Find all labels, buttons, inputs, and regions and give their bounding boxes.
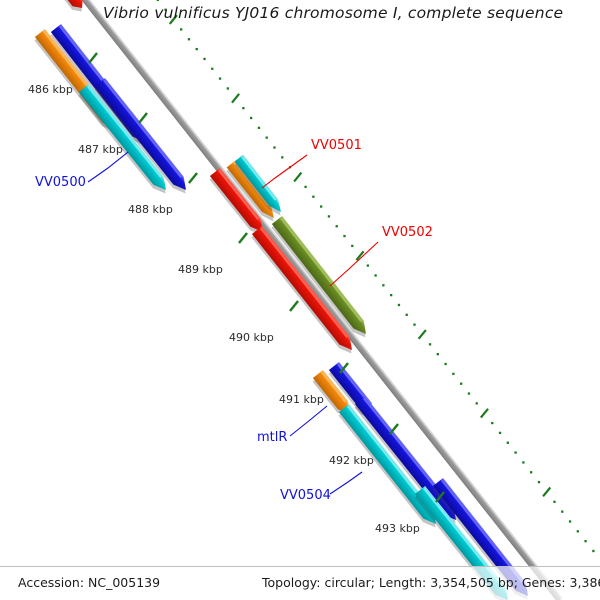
- feature-cyan-0500[interactable]: [77, 84, 173, 198]
- ruler-tick-minor: [592, 550, 594, 552]
- genome-map-viewer: 486 kbp487 kbp488 kbp489 kbp490 kbp491 k…: [0, 0, 600, 600]
- ruler-tick-minor: [203, 58, 205, 60]
- ruler-tick-minor: [211, 68, 213, 70]
- ruler-tick-minor: [196, 48, 198, 50]
- ruler-tick-minor: [281, 156, 283, 158]
- tick-marks-layer: [149, 0, 600, 600]
- ruler-tick-minor: [452, 373, 454, 375]
- ruler-tick-minor: [460, 383, 462, 385]
- ruler-tick-minor: [398, 304, 400, 306]
- ruler-tick-minor: [553, 501, 555, 503]
- ruler-tick-minor: [227, 87, 229, 89]
- gene-label-leader: [330, 242, 378, 286]
- ruler-tick-minor: [304, 186, 306, 188]
- ruler-tick-minor: [577, 530, 579, 532]
- ruler-tick-minor: [180, 28, 182, 30]
- sequence-meta-label: Topology: circular; Length: 3,354,505 bp…: [262, 575, 600, 590]
- ruler-tick-minor: [273, 146, 275, 148]
- feature-arrow[interactable]: [79, 84, 171, 194]
- gene-label-mtlr[interactable]: mtlR: [257, 430, 287, 445]
- gene-features-layer[interactable]: [33, 0, 535, 600]
- ruler-tick-minor: [444, 363, 446, 365]
- gene-label-vv0500[interactable]: VV0500: [35, 175, 86, 190]
- ruler-tick-minor: [266, 137, 268, 139]
- axis-tick-label: 491 kbp: [279, 393, 324, 406]
- ruler-tick-minor: [561, 510, 563, 512]
- axis-tick-mark: [139, 113, 147, 123]
- ruler-tick-minor: [413, 324, 415, 326]
- ruler-tick-minor: [437, 353, 439, 355]
- ruler-tick-minor: [312, 196, 314, 198]
- axis-tick-label: 490 kbp: [229, 331, 274, 344]
- ruler-tick-minor: [250, 117, 252, 119]
- ruler-tick-minor: [336, 225, 338, 227]
- ruler-tick-minor: [351, 245, 353, 247]
- axis-tick-mark: [239, 233, 247, 243]
- ruler-tick-minor: [507, 442, 509, 444]
- ruler-tick-minor: [476, 402, 478, 404]
- axis-tick-mark: [189, 173, 197, 183]
- feature-highlight: [87, 86, 162, 178]
- ruler-tick-minor: [514, 451, 516, 453]
- feature-arrow[interactable]: [95, 78, 191, 194]
- gene-label-leader: [330, 472, 362, 494]
- axis-tick-label: 489 kbp: [178, 263, 223, 276]
- ruler-tick-minor: [219, 77, 221, 79]
- genome-map-canvas[interactable]: 486 kbp487 kbp488 kbp489 kbp490 kbp491 k…: [0, 0, 600, 600]
- ruler-tick-minor: [328, 215, 330, 217]
- ruler-tick-major: [543, 488, 550, 497]
- ruler-tick-minor: [569, 520, 571, 522]
- ruler-tick-minor: [343, 235, 345, 237]
- ruler-tick-minor: [406, 314, 408, 316]
- axis-tick-label: 492 kbp: [329, 454, 374, 467]
- page-title: Vibrio vulnificus YJ016 chromosome I, co…: [103, 4, 563, 22]
- ruler-tick-minor: [499, 432, 501, 434]
- ruler-tick-minor: [390, 294, 392, 296]
- ruler-tick-major: [419, 330, 426, 339]
- accession-label: Accession: NC_005139: [18, 575, 160, 590]
- ruler-tick-minor: [468, 392, 470, 394]
- ruler-tick-minor: [188, 38, 190, 40]
- ruler-tick-major: [232, 94, 239, 103]
- ruler-tick-minor: [157, 0, 159, 1]
- ruler-tick-minor: [374, 274, 376, 276]
- gene-label-vv0501[interactable]: VV0501: [311, 138, 362, 153]
- gene-label-leader: [290, 406, 327, 436]
- ruler-tick-minor: [530, 471, 532, 473]
- ruler-tick-minor: [367, 264, 369, 266]
- axis-tick-label: 493 kbp: [375, 522, 420, 535]
- ruler-tick-major: [294, 173, 301, 182]
- ruler-tick-minor: [429, 343, 431, 345]
- ruler-tick-major: [481, 409, 488, 418]
- axis-tick-mark: [89, 53, 97, 63]
- ruler-tick-minor: [382, 284, 384, 286]
- status-bar: Accession: NC_005139 Topology: circular;…: [0, 566, 600, 600]
- ruler-tick-minor: [584, 540, 586, 542]
- axis-tick-mark: [290, 301, 298, 311]
- ruler-tick-minor: [258, 127, 260, 129]
- ruler-tick-minor: [320, 205, 322, 207]
- ruler-tick-minor: [538, 481, 540, 483]
- axis-tick-label: 488 kbp: [128, 203, 173, 216]
- gene-label-vv0504[interactable]: VV0504: [280, 488, 331, 503]
- axis-tick-label: 487 kbp: [78, 143, 123, 156]
- axis-tick-label: 486 kbp: [28, 83, 73, 96]
- gene-label-leader: [262, 155, 307, 188]
- gene-label-vv0502[interactable]: VV0502: [382, 225, 433, 240]
- ruler-tick-minor: [242, 107, 244, 109]
- feature-blue-0500[interactable]: [93, 78, 193, 198]
- gene-label-leader: [88, 152, 128, 182]
- ruler-tick-minor: [491, 422, 493, 424]
- ruler-tick-minor: [522, 461, 524, 463]
